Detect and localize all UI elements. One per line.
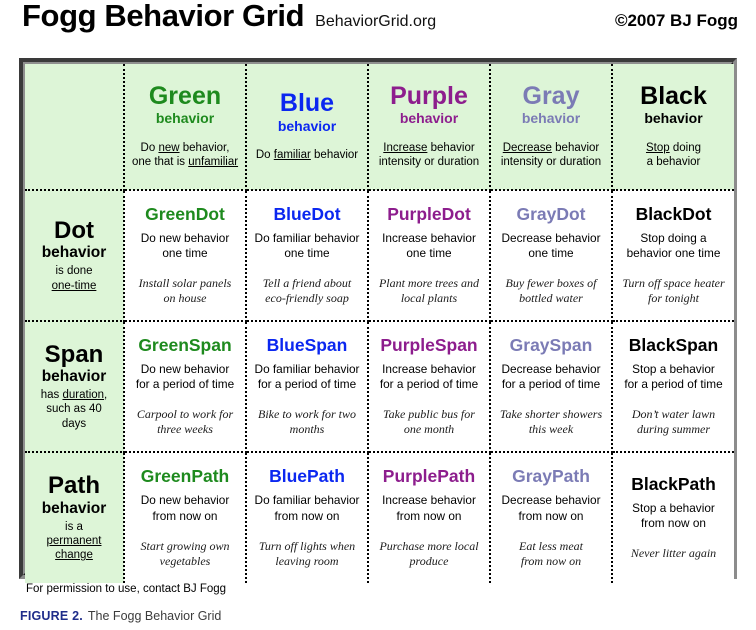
grid-row-dot: Dot behavior is done one-time GreenDot D…: [25, 190, 734, 321]
cell-desc-l2: behavior one time: [627, 246, 721, 260]
desc-post: behavior,: [180, 142, 230, 154]
cell-desc-l1: Do familiar behavior: [255, 493, 360, 507]
cell-ex-l2: local plants: [401, 291, 457, 305]
cell-desc-l2: for a period of time: [136, 377, 234, 391]
cell-description: Decrease behavior for a period of time: [495, 362, 607, 393]
cell-title: PurpleSpan: [373, 336, 485, 355]
column-header-title: Blue: [251, 90, 363, 116]
cell-description: Do familiar behavior for a period of tim…: [251, 362, 363, 393]
column-header-black[interactable]: Black behavior Stop doing a behavior: [612, 64, 734, 190]
grid-row-span: Span behavior has duration, such as 40 d…: [25, 321, 734, 452]
grid-corner-cell: [25, 64, 124, 190]
cell-desc-l2: from now on: [641, 516, 706, 530]
cell-title: PurplePath: [373, 467, 485, 486]
column-header-subtitle: behavior: [251, 119, 363, 134]
column-header-subtitle: behavior: [129, 111, 241, 126]
cell-ex-l1: Turn off space heater: [622, 276, 724, 290]
cell-description: Do new behavior from now on: [129, 493, 241, 524]
cell-gray-span[interactable]: GraySpan Decrease behavior for a period …: [490, 321, 612, 452]
row-header-title: Path: [29, 473, 119, 498]
figure-caption-text: The Fogg Behavior Grid: [88, 609, 221, 623]
desc-post: behavior: [311, 149, 358, 161]
cell-description: Increase behavior from now on: [373, 493, 485, 524]
row-header-note: has duration, such as 40 days: [29, 388, 119, 431]
row-header-note: is a permanent change: [29, 520, 119, 563]
row-header-dot[interactable]: Dot behavior is done one-time: [25, 190, 124, 321]
cell-description: Stop a behavior from now on: [617, 501, 730, 532]
column-header-title: Green: [129, 83, 241, 109]
desc-underline: new: [158, 142, 179, 154]
cell-title: GraySpan: [495, 336, 607, 355]
cell-desc-l2: from now on: [153, 509, 218, 523]
cell-example: Eat less meat from now on: [495, 539, 607, 569]
note-line1: is a: [65, 521, 83, 533]
cell-desc-l1: Do new behavior: [141, 362, 230, 376]
cell-black-span[interactable]: BlackSpan Stop a behavior for a period o…: [612, 321, 734, 452]
note-line3: days: [62, 418, 86, 430]
cell-title: PurpleDot: [373, 205, 485, 224]
cell-description: Do familiar behavior from now on: [251, 493, 363, 524]
desc-underline: familiar: [274, 149, 311, 161]
cell-desc-l1: Increase behavior: [382, 493, 476, 507]
cell-title: BlackDot: [617, 205, 730, 224]
cell-ex-l2: during summer: [637, 422, 710, 436]
cell-gray-dot[interactable]: GrayDot Decrease behavior one time Buy f…: [490, 190, 612, 321]
cell-desc-l1: Do familiar behavior: [255, 231, 360, 245]
cell-ex-l1: Buy fewer boxes of: [506, 276, 597, 290]
cell-example: Turn off space heater for tonight: [617, 276, 730, 306]
cell-desc-l1: Increase behavior: [382, 231, 476, 245]
behavior-grid-frame: Green behavior Do new behavior, one that…: [19, 58, 737, 579]
row-header-subtitle: behavior: [29, 500, 119, 517]
cell-description: Do new behavior one time: [129, 231, 241, 262]
cell-ex-l2: this week: [529, 422, 573, 436]
cell-gray-path[interactable]: GrayPath Decrease behavior from now on E…: [490, 452, 612, 583]
row-header-span[interactable]: Span behavior has duration, such as 40 d…: [25, 321, 124, 452]
column-header-description: Stop doing a behavior: [617, 141, 730, 170]
cell-example: Don’t water lawn during summer: [617, 407, 730, 437]
cell-desc-l1: Stop a behavior: [632, 501, 715, 515]
figure-number-label: FIGURE 2.: [20, 609, 83, 623]
desc-underline: Decrease: [503, 142, 552, 154]
cell-green-path[interactable]: GreenPath Do new behavior from now on St…: [124, 452, 246, 583]
figure-caption: FIGURE 2.The Fogg Behavior Grid: [20, 609, 221, 623]
cell-desc-l2: one time: [528, 246, 573, 260]
site-url: BehaviorGrid.org: [315, 13, 436, 31]
desc2-pre: a behavior: [647, 156, 701, 168]
cell-ex-l1: Install solar panels: [139, 276, 232, 290]
cell-desc-l2: one time: [284, 246, 329, 260]
cell-title: BlackSpan: [617, 336, 730, 355]
note-underline: one-time: [52, 280, 97, 292]
desc-post: behavior: [552, 142, 599, 154]
cell-description: Do familiar behavior one time: [251, 231, 363, 262]
column-header-subtitle: behavior: [495, 111, 607, 126]
desc-underline: Stop: [646, 142, 670, 154]
cell-ex-l2: on house: [164, 291, 207, 305]
cell-desc-l1: Stop doing a: [640, 231, 706, 245]
cell-ex-l1: Purchase more local: [379, 539, 478, 553]
cell-desc-l1: Decrease behavior: [501, 362, 600, 376]
desc-pre: Do: [141, 142, 159, 154]
cell-ex-l2: from now on: [521, 554, 581, 568]
column-header-subtitle: behavior: [373, 111, 485, 126]
column-header-title: Gray: [495, 83, 607, 109]
column-header-green[interactable]: Green behavior Do new behavior, one that…: [124, 64, 246, 190]
row-header-subtitle: behavior: [29, 368, 119, 385]
cell-example: Turn off lights when leaving room: [251, 539, 363, 569]
cell-desc-l2: for a period of time: [502, 377, 600, 391]
column-header-description: Do familiar behavior: [251, 148, 363, 163]
column-header-description: Decrease behavior intensity or duration: [495, 141, 607, 170]
note-underline: permanent: [47, 535, 102, 547]
grid-header-row: Green behavior Do new behavior, one that…: [25, 64, 734, 190]
cell-ex-l2: produce: [410, 554, 449, 568]
cell-example: Take shorter showers this week: [495, 407, 607, 437]
cell-description: Stop a behavior for a period of time: [617, 362, 730, 393]
cell-purple-path[interactable]: PurplePath Increase behavior from now on…: [368, 452, 490, 583]
column-header-subtitle: behavior: [617, 111, 730, 126]
cell-blue-span[interactable]: BlueSpan Do familiar behavior for a peri…: [246, 321, 368, 452]
copyright-notice: ©2007 BJ Fogg: [615, 11, 738, 31]
cell-desc-l2: for a period of time: [624, 377, 722, 391]
cell-desc-l2: from now on: [519, 509, 584, 523]
cell-description: Decrease behavior one time: [495, 231, 607, 262]
column-header-description: Do new behavior, one that is unfamiliar: [129, 141, 241, 170]
cell-title: GrayPath: [495, 467, 607, 486]
cell-example: Tell a friend about eco-friendly soap: [251, 276, 363, 306]
cell-ex-l2: months: [290, 422, 325, 436]
cell-desc-l1: Do familiar behavior: [255, 362, 360, 376]
page-title: Fogg Behavior Grid: [22, 0, 304, 31]
cell-desc-l1: Do new behavior: [141, 493, 230, 507]
desc-post: behavior: [427, 142, 474, 154]
cell-ex-l2: one month: [404, 422, 454, 436]
cell-desc-l2: from now on: [397, 509, 462, 523]
cell-ex-l1: Eat less meat: [519, 539, 583, 553]
cell-ex-l1: Tell a friend about: [263, 276, 352, 290]
cell-title: GrayDot: [495, 205, 607, 224]
cell-ex-l2: eco-friendly soap: [265, 291, 349, 305]
cell-example: Buy fewer boxes of bottled water: [495, 276, 607, 306]
cell-desc-l2: for a period of time: [380, 377, 478, 391]
cell-example: Start growing own vegetables: [129, 539, 241, 569]
cell-description: Stop doing a behavior one time: [617, 231, 730, 262]
cell-black-path[interactable]: BlackPath Stop a behavior from now on Ne…: [612, 452, 734, 583]
cell-green-span[interactable]: GreenSpan Do new behavior for a period o…: [124, 321, 246, 452]
column-header-description: Increase behavior intensity or duration: [373, 141, 485, 170]
title-bar: Fogg Behavior Grid BehaviorGrid.org ©200…: [0, 0, 756, 56]
cell-ex-l2: for tonight: [648, 291, 699, 305]
behavior-grid-frame-inner: Green behavior Do new behavior, one that…: [23, 62, 733, 575]
cell-green-dot[interactable]: GreenDot Do new behavior one time Instal…: [124, 190, 246, 321]
cell-title: BlueSpan: [251, 336, 363, 355]
desc2-pre: intensity or duration: [379, 156, 479, 168]
row-header-title: Dot: [29, 218, 119, 243]
row-header-path[interactable]: Path behavior is a permanent change: [25, 452, 124, 583]
note-pre: has: [41, 389, 63, 401]
cell-ex-l1: Start growing own: [141, 539, 230, 553]
cell-blue-dot[interactable]: BlueDot Do familiar behavior one time Te…: [246, 190, 368, 321]
column-header-blue[interactable]: Blue behavior Do familiar behavior: [246, 64, 368, 190]
cell-title: GreenDot: [129, 205, 241, 224]
cell-ex-l1: Bike to work for two: [258, 407, 356, 421]
desc-post: doing: [670, 142, 701, 154]
cell-description: Decrease behavior from now on: [495, 493, 607, 524]
column-header-gray[interactable]: Gray behavior Decrease behavior intensit…: [490, 64, 612, 190]
cell-title: BlackPath: [617, 475, 730, 494]
cell-ex-l1: Plant more trees and: [379, 276, 479, 290]
note-line1: is done: [55, 265, 92, 277]
cell-desc-l1: Increase behavior: [382, 362, 476, 376]
cell-ex-l2: vegetables: [160, 554, 211, 568]
permission-note: For permission to use, contact BJ Fogg: [26, 583, 226, 595]
cell-desc-l1: Do new behavior: [141, 231, 230, 245]
note-line2: such as 40: [46, 403, 102, 415]
cell-example: Install solar panels on house: [129, 276, 241, 306]
row-header-note: is done one-time: [29, 264, 119, 293]
cell-desc-l1: Decrease behavior: [501, 231, 600, 245]
row-header-subtitle: behavior: [29, 244, 119, 261]
cell-desc-l2: from now on: [275, 509, 340, 523]
cell-ex-l1: Take public bus for: [383, 407, 475, 421]
cell-example: Bike to work for two months: [251, 407, 363, 437]
cell-desc-l2: one time: [406, 246, 451, 260]
figure-page: Fogg Behavior Grid BehaviorGrid.org ©200…: [0, 0, 756, 630]
note-underline: duration: [62, 389, 104, 401]
note-underline-2: change: [55, 549, 93, 561]
cell-purple-span[interactable]: PurpleSpan Increase behavior for a perio…: [368, 321, 490, 452]
cell-desc-l1: Stop a behavior: [632, 362, 715, 376]
column-header-title: Black: [617, 83, 730, 109]
cell-blue-path[interactable]: BluePath Do familiar behavior from now o…: [246, 452, 368, 583]
cell-ex-l1: Don’t water lawn: [632, 407, 715, 421]
cell-ex-l2: three weeks: [157, 422, 213, 436]
column-header-purple[interactable]: Purple behavior Increase behavior intens…: [368, 64, 490, 190]
desc2-pre: intensity or duration: [501, 156, 601, 168]
cell-purple-dot[interactable]: PurpleDot Increase behavior one time Pla…: [368, 190, 490, 321]
note-post: ,: [104, 389, 107, 401]
cell-description: Increase behavior for a period of time: [373, 362, 485, 393]
column-header-title: Purple: [373, 83, 485, 109]
cell-example: Purchase more local produce: [373, 539, 485, 569]
cell-ex-l1: Take shorter showers: [500, 407, 602, 421]
cell-ex-l1: Carpool to work for: [137, 407, 233, 421]
cell-title: BluePath: [251, 467, 363, 486]
cell-ex-l1: Never litter again: [631, 546, 716, 560]
cell-ex-l1: Turn off lights when: [259, 539, 355, 553]
desc2-underline: unfamiliar: [188, 156, 238, 168]
cell-desc-l1: Decrease behavior: [501, 493, 600, 507]
row-header-title: Span: [29, 342, 119, 367]
grid-row-path: Path behavior is a permanent change Gree…: [25, 452, 734, 583]
desc2-pre: one that is: [132, 156, 188, 168]
cell-ex-l2: bottled water: [519, 291, 583, 305]
cell-description: Increase behavior one time: [373, 231, 485, 262]
cell-title: GreenSpan: [129, 336, 241, 355]
cell-ex-l2: leaving room: [275, 554, 338, 568]
desc-pre: Do: [256, 149, 274, 161]
cell-desc-l2: for a period of time: [258, 377, 356, 391]
cell-desc-l2: one time: [162, 246, 207, 260]
cell-title: GreenPath: [129, 467, 241, 486]
cell-black-dot[interactable]: BlackDot Stop doing a behavior one time …: [612, 190, 734, 321]
cell-example: Never litter again: [617, 546, 730, 561]
cell-example: Carpool to work for three weeks: [129, 407, 241, 437]
cell-example: Take public bus for one month: [373, 407, 485, 437]
cell-example: Plant more trees and local plants: [373, 276, 485, 306]
cell-title: BlueDot: [251, 205, 363, 224]
cell-description: Do new behavior for a period of time: [129, 362, 241, 393]
desc-underline: Increase: [383, 142, 427, 154]
behavior-grid-table: Green behavior Do new behavior, one that…: [25, 64, 734, 583]
